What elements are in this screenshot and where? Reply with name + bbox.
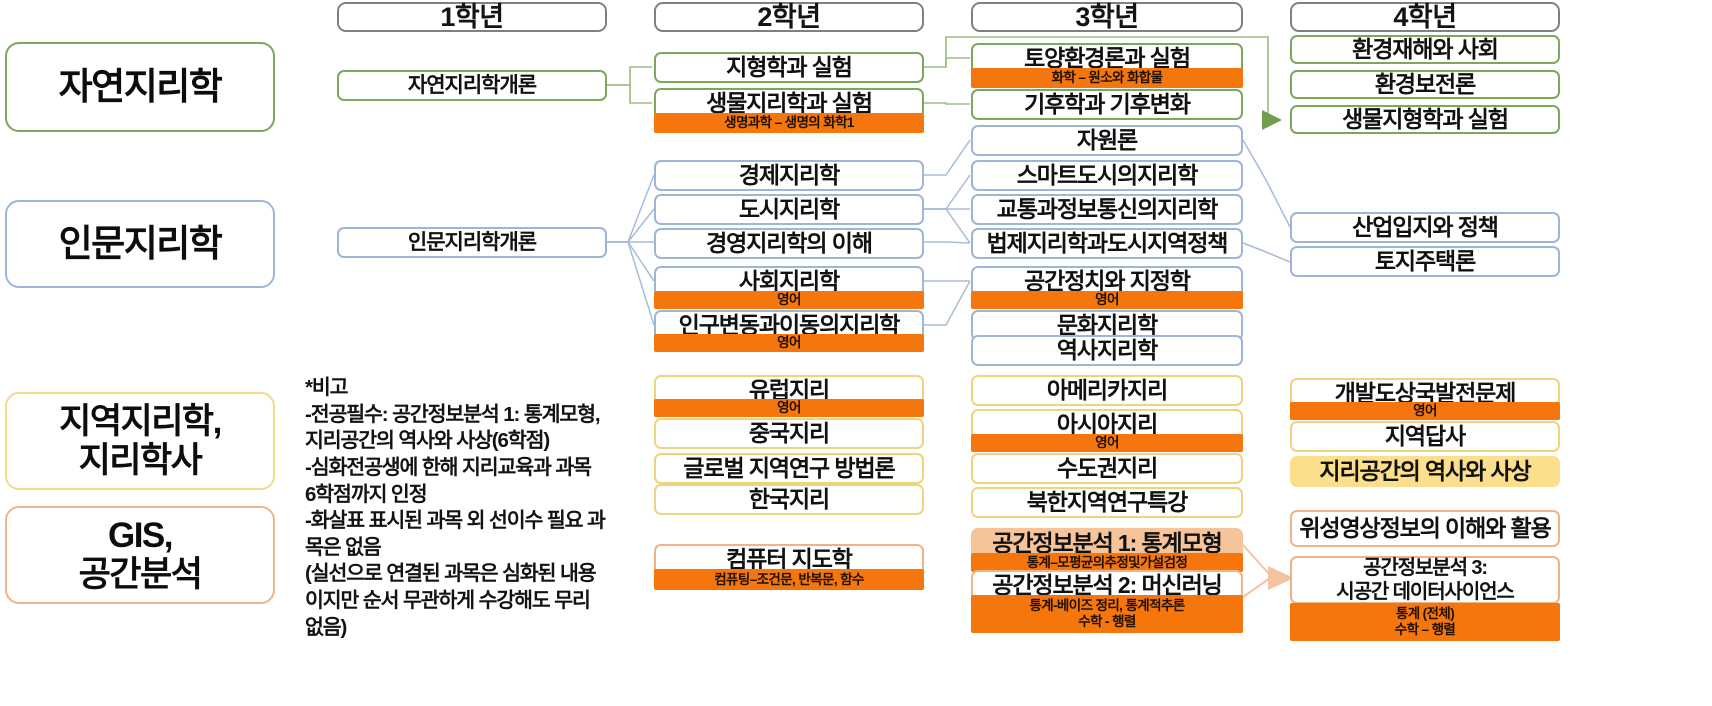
category-gis: GIS, 공간분석 <box>5 506 275 604</box>
prereq-physical-y2-1: 생명과학 – 생명의 화학1 <box>654 113 924 133</box>
prereq-gis-y2-0: 컴퓨팅–조건문, 반복문, 함수 <box>654 569 924 590</box>
course-human-y3-2[interactable]: 교통과정보통신의지리학 <box>971 194 1243 225</box>
course-regional-y4-1[interactable]: 지역답사 <box>1290 421 1560 452</box>
year-header-3: 3학년 <box>971 2 1243 32</box>
course-regional-y2-1[interactable]: 중국지리 <box>654 418 924 449</box>
prereq-human-y3-4: 영어 <box>971 291 1243 309</box>
course-regional-y4-2-required[interactable]: 지리공간의 역사와 사상 <box>1290 456 1560 487</box>
course-regional-y3-0[interactable]: 아메리카지리 <box>971 375 1243 406</box>
remarks-note: *비고 -전공필수: 공간정보분석 1: 통계모형, 지리공간의 역사와 사상(… <box>305 375 635 641</box>
course-human-y4-0[interactable]: 산업입지와 정책 <box>1290 212 1560 243</box>
course-physical-y4-1[interactable]: 환경보전론 <box>1290 70 1560 99</box>
course-regional-y3-2[interactable]: 수도권지리 <box>971 453 1243 484</box>
course-physical-y4-0[interactable]: 환경재해와 사회 <box>1290 35 1560 64</box>
prereq-gis-y3-1: 통계-베이즈 정리, 통계적추론 수학 - 행렬 <box>971 595 1243 633</box>
prereq-regional-y4-0: 영어 <box>1290 402 1560 420</box>
year-header-4: 4학년 <box>1290 2 1560 32</box>
year-header-2: 2학년 <box>654 2 924 32</box>
course-physical-y1-0[interactable]: 자연지리학개론 <box>337 70 607 101</box>
course-gis-y4-0[interactable]: 위성영상정보의 이해와 활용 <box>1290 510 1560 547</box>
course-human-y2-2[interactable]: 경영지리학의 이해 <box>654 228 924 259</box>
category-regional-geography: 지역지리학, 지리학사 <box>5 392 275 490</box>
course-physical-y3-1[interactable]: 기후학과 기후변화 <box>971 89 1243 120</box>
course-regional-y3-3[interactable]: 북한지역연구특강 <box>971 487 1243 518</box>
curriculum-roadmap-diagram: 1학년 2학년 3학년 4학년 자연지리학 인문지리학 지역지리학, 지리학사 … <box>0 0 1712 706</box>
course-human-y2-1[interactable]: 도시지리학 <box>654 194 924 225</box>
arrow-head-green <box>1262 110 1282 130</box>
course-human-y2-0[interactable]: 경제지리학 <box>654 160 924 191</box>
prereq-regional-y2-0: 영어 <box>654 399 924 417</box>
course-human-y1-0[interactable]: 인문지리학개론 <box>337 227 607 258</box>
course-human-y4-1[interactable]: 토지주택론 <box>1290 246 1560 277</box>
prereq-human-y2-4: 영어 <box>654 334 924 352</box>
course-human-y3-1[interactable]: 스마트도시의지리학 <box>971 160 1243 191</box>
prereq-physical-y3-0: 화학 – 원소와 화합물 <box>971 68 1243 88</box>
prereq-regional-y3-1: 영어 <box>971 434 1243 452</box>
category-human-geography: 인문지리학 <box>5 200 275 288</box>
course-physical-y2-0[interactable]: 지형학과 실험 <box>654 52 924 83</box>
prereq-human-y2-3: 영어 <box>654 291 924 309</box>
course-human-y3-0[interactable]: 자원론 <box>971 125 1243 156</box>
course-human-y3-3[interactable]: 법제지리학과도시지역정책 <box>971 228 1243 259</box>
course-physical-y4-2[interactable]: 생물지형학과 실험 <box>1290 105 1560 134</box>
course-human-y3-6[interactable]: 역사지리학 <box>971 335 1243 366</box>
course-gis-y4-1[interactable]: 공간정보분석 3: 시공간 데이터사이언스 <box>1290 556 1560 604</box>
category-physical-geography: 자연지리학 <box>5 42 275 132</box>
course-regional-y2-2[interactable]: 글로벌 지역연구 방법론 <box>654 453 924 484</box>
prereq-gis-y4-1: 통계 (전체) 수학 – 행렬 <box>1290 603 1560 641</box>
course-regional-y2-3[interactable]: 한국지리 <box>654 484 924 515</box>
year-header-1: 1학년 <box>337 2 607 32</box>
